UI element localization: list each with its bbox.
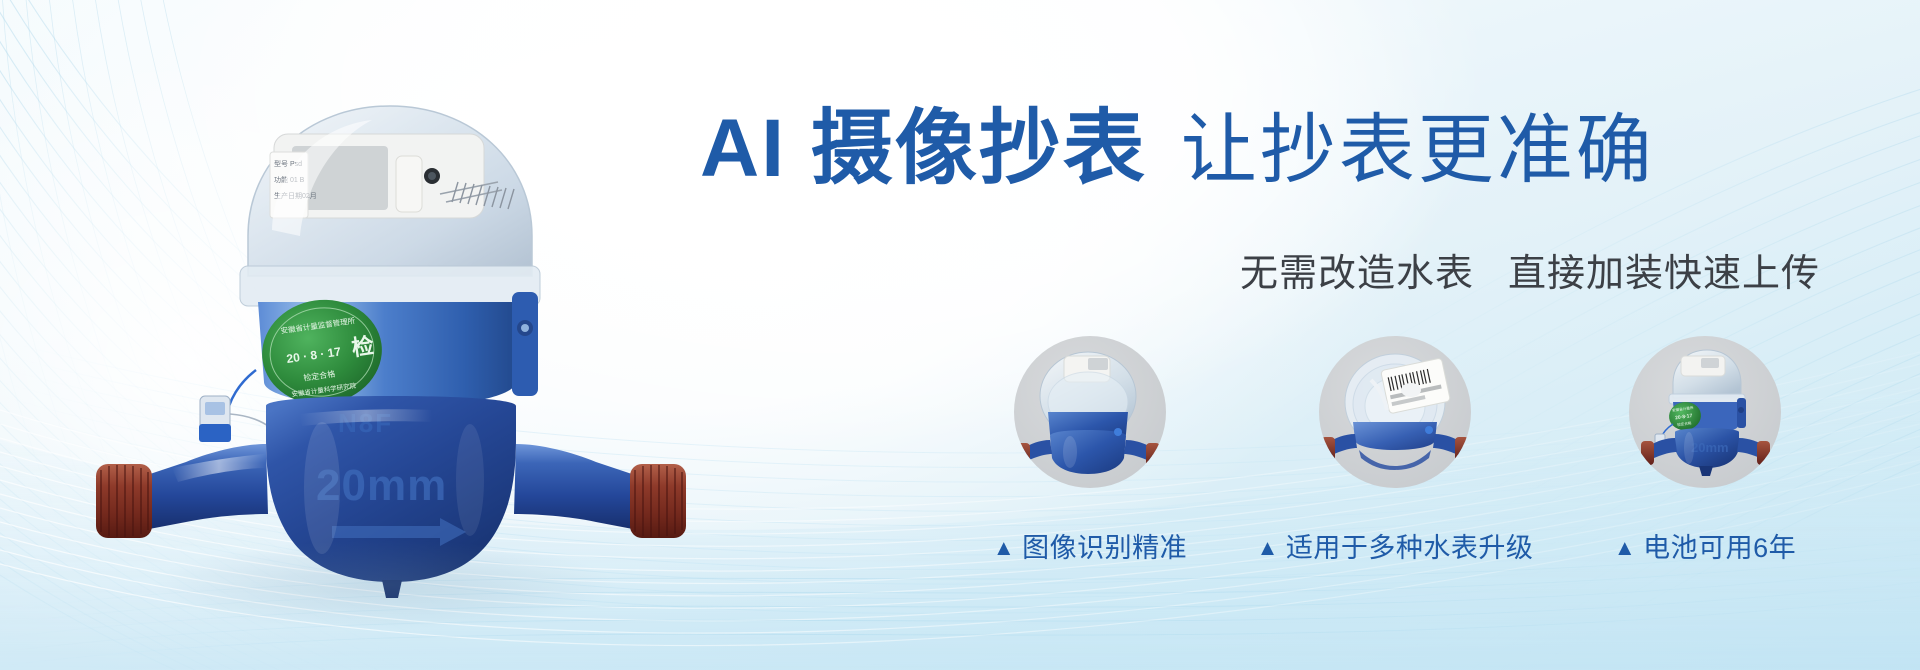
svg-text:20mm: 20mm (1691, 440, 1729, 455)
product-shadow (150, 540, 620, 630)
fan-lines-right-decoration (1080, 0, 1920, 670)
hero-banner: 型号 Psd 功能 01 B 生产日期02月 (0, 0, 1920, 670)
feature-caption-text-2: 适用于多种水表升级 (1286, 533, 1534, 563)
feature-caption-2: ▲适用于多种水表升级 (1255, 526, 1535, 565)
triangle-marker-icon: ▲ (1614, 535, 1636, 561)
headline: AI 摄像抄表让抄表更准确 (700, 108, 1655, 190)
feature-caption-text-1: 图像识别精准 (1022, 533, 1187, 563)
headline-strong: AI 摄像抄表 (700, 103, 1147, 194)
subtitle: 无需改造水表直接加装快速上传 (1240, 242, 1820, 297)
triangle-marker-icon: ▲ (1257, 535, 1279, 561)
water-meter-thumb-side-icon (1014, 336, 1166, 488)
svg-text:检: 检 (350, 333, 375, 361)
water-meter-thumb-seal-icon: 安徽省计量所 20·8·17 检定合格 20mm (1629, 336, 1781, 488)
feature-thumbnail-2 (1319, 336, 1471, 488)
triangle-marker-icon: ▲ (993, 535, 1015, 561)
feature-caption-1: ▲图像识别精准 (950, 526, 1230, 565)
subtitle-part1: 无需改造水表 (1240, 253, 1474, 295)
main-product-image: 型号 Psd 功能 01 B 生产日期02月 (60, 70, 720, 630)
headline-light: 让抄表更准确 (1181, 108, 1655, 193)
water-meter-thumb-top-icon (1319, 336, 1471, 488)
feature-item-meter-upgrade: ▲适用于多种水表升级 (1255, 336, 1535, 565)
feature-item-battery-life: 安徽省计量所 20·8·17 检定合格 20mm (1565, 336, 1845, 565)
feature-item-image-recognition: ▲图像识别精准 (950, 336, 1230, 565)
feature-thumbnail-3: 安徽省计量所 20·8·17 检定合格 20mm (1629, 336, 1781, 488)
subtitle-part2: 直接加装快速上传 (1508, 253, 1820, 295)
feature-list: ▲图像识别精准 (950, 336, 1850, 566)
feature-caption-text-3: 电池可用6年 (1643, 533, 1796, 563)
feature-caption-3: ▲电池可用6年 (1565, 526, 1845, 565)
feature-thumbnail-1 (1014, 336, 1166, 488)
